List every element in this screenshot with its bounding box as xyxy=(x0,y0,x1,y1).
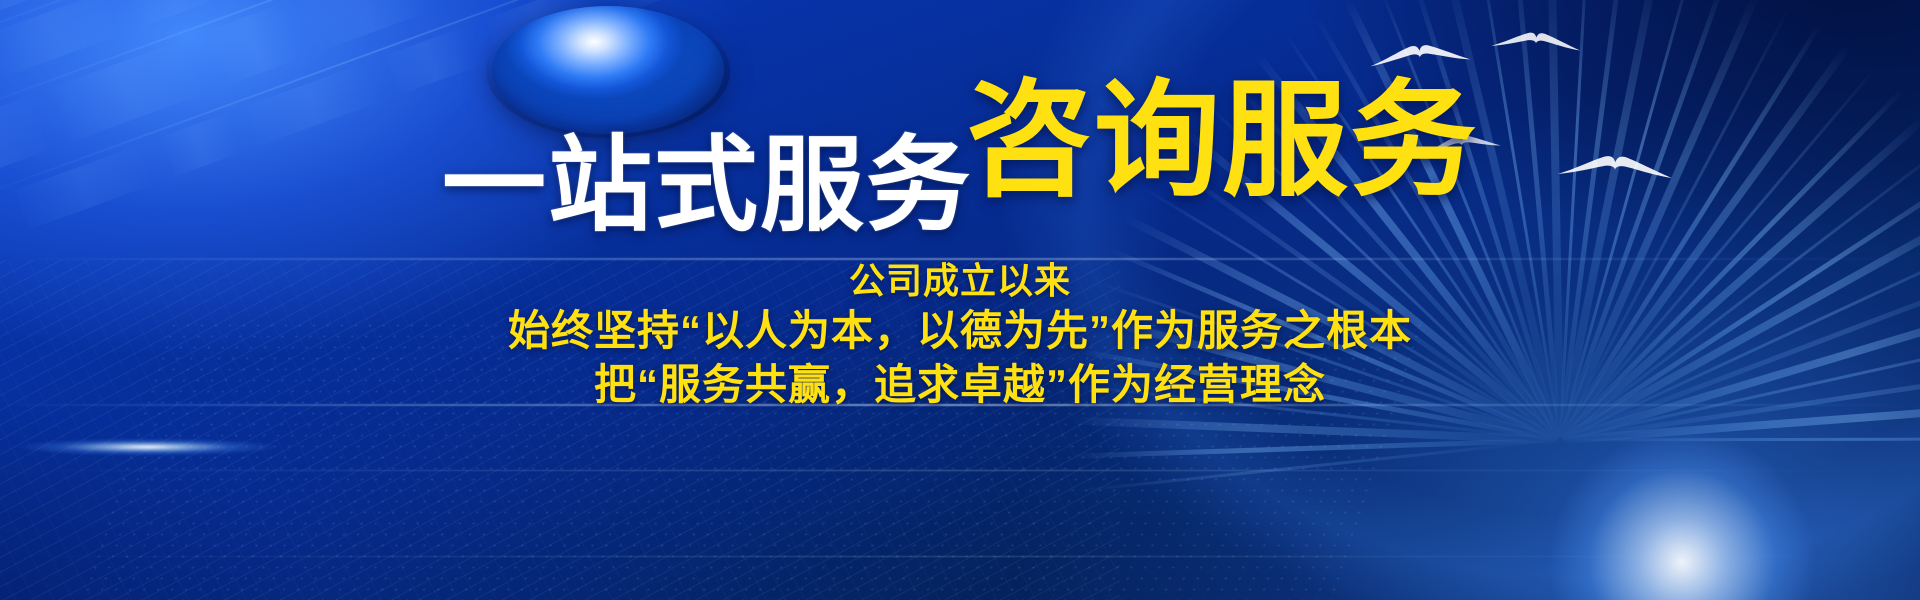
subtitle-block: 公司成立以来 始终坚持“以人为本，以德为先”作为服务之根本 把“服务共赢，追求卓… xyxy=(0,258,1920,412)
subtitle-line-3: 把“服务共赢，追求卓越”作为经营理念 xyxy=(0,358,1920,412)
headline-accent-text: 咨询服务 xyxy=(966,78,1478,204)
banner-content: 一站式服务 咨询服务 公司成立以来 始终坚持“以人为本，以德为先”作为服务之根本… xyxy=(0,0,1920,600)
headline: 一站式服务 咨询服务 xyxy=(0,78,1920,204)
headline-main-text: 一站式服务 xyxy=(442,134,972,238)
promo-banner: 一站式服务 咨询服务 公司成立以来 始终坚持“以人为本，以德为先”作为服务之根本… xyxy=(0,0,1920,600)
subtitle-line-2: 始终坚持“以人为本，以德为先”作为服务之根本 xyxy=(0,304,1920,358)
subtitle-line-1: 公司成立以来 xyxy=(0,258,1920,304)
